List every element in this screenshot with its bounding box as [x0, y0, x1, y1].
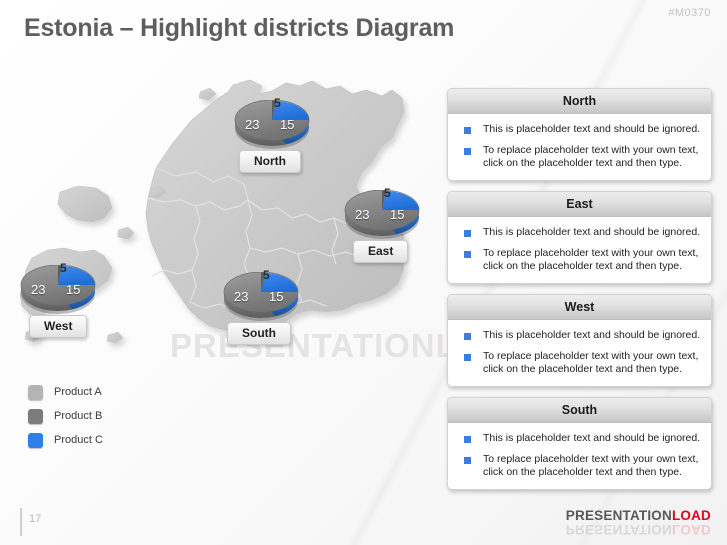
bullet-square-icon — [464, 148, 471, 155]
slide-canvas: Estonia – Highlight districts Diagram #M… — [0, 0, 727, 545]
bullet-square-icon — [464, 436, 471, 443]
pie-chart-north-svg — [230, 100, 314, 156]
list-item[interactable]: To replace placeholder text with your ow… — [456, 350, 701, 376]
logo-reflection-main: PRESENTATION — [566, 522, 672, 537]
district-badge-west[interactable]: West — [29, 315, 87, 338]
list-item[interactable]: To replace placeholder text with your ow… — [456, 453, 701, 479]
logo-text-main: PRESENTATION — [566, 508, 672, 523]
panel-north-title: North — [448, 89, 711, 114]
bullet-square-icon — [464, 457, 471, 464]
panel-north[interactable]: North This is placeholder text and shoul… — [447, 88, 712, 181]
legend-label-product-b: Product B — [54, 410, 102, 422]
logo-text-accent: LOAD — [672, 508, 711, 523]
pie-value-blue-east: 15 — [390, 207, 404, 222]
pie-label-small-south: 5 — [263, 268, 270, 282]
panel-west-title: West — [448, 295, 711, 320]
chart-legend: Product A Product B Product C — [28, 380, 103, 452]
bullet-text: To replace placeholder text with your ow… — [483, 144, 701, 170]
legend-item-product-c[interactable]: Product C — [28, 428, 103, 452]
pie-value-gray-east: 23 — [355, 207, 369, 222]
bullet-text: To replace placeholder text with your ow… — [483, 453, 701, 479]
bullet-text: This is placeholder text and should be i… — [483, 329, 700, 342]
pie-label-small-west: 5 — [60, 261, 67, 275]
panel-north-body[interactable]: This is placeholder text and should be i… — [448, 114, 711, 180]
pie-value-gray-north: 23 — [245, 117, 259, 132]
pie-chart-north[interactable]: 5 23 15 — [230, 100, 314, 156]
bullet-text: To replace placeholder text with your ow… — [483, 350, 701, 376]
district-badge-south[interactable]: South — [227, 322, 291, 345]
legend-swatch-product-b — [28, 409, 43, 424]
bullet-square-icon — [464, 230, 471, 237]
list-item[interactable]: To replace placeholder text with your ow… — [456, 144, 701, 170]
district-badge-north[interactable]: North — [239, 150, 301, 173]
pie-marker-north[interactable]: 5 23 15 North — [230, 100, 314, 156]
legend-swatch-product-c — [28, 433, 43, 448]
legend-label-product-c: Product C — [54, 434, 103, 446]
pie-value-gray-south: 23 — [234, 289, 248, 304]
page-title: Estonia – Highlight districts Diagram — [24, 14, 454, 43]
panel-east-body[interactable]: This is placeholder text and should be i… — [448, 217, 711, 283]
pie-chart-east[interactable]: 5 23 15 — [340, 190, 424, 246]
panel-west-body[interactable]: This is placeholder text and should be i… — [448, 320, 711, 386]
panel-west[interactable]: West This is placeholder text and should… — [447, 294, 712, 387]
page-number-rule — [20, 508, 22, 536]
page-number: 17 — [29, 513, 41, 525]
panel-east[interactable]: East This is placeholder text and should… — [447, 191, 712, 284]
bullet-square-icon — [464, 127, 471, 134]
bullet-text: To replace placeholder text with your ow… — [483, 247, 701, 273]
pie-marker-east[interactable]: 5 23 15 East — [340, 190, 424, 246]
pie-chart-south[interactable]: 5 23 15 — [219, 272, 303, 328]
panel-south-body[interactable]: This is placeholder text and should be i… — [448, 423, 711, 489]
pie-value-gray-west: 23 — [31, 282, 45, 297]
pie-marker-west[interactable]: 5 23 15 West — [16, 265, 100, 321]
pie-value-blue-south: 15 — [269, 289, 283, 304]
list-item[interactable]: This is placeholder text and should be i… — [456, 123, 701, 136]
logo-reflection: PRESENTATIONLOAD — [566, 523, 711, 536]
bullet-text: This is placeholder text and should be i… — [483, 226, 700, 239]
legend-item-product-a[interactable]: Product A — [28, 380, 103, 404]
panel-south-title: South — [448, 398, 711, 423]
logo-text: PRESENTATIONLOAD — [566, 508, 711, 523]
pie-label-small-east: 5 — [384, 186, 391, 200]
pie-chart-west-svg — [16, 265, 100, 321]
pie-label-small-north: 5 — [274, 96, 281, 110]
pie-chart-south-svg — [219, 272, 303, 328]
district-badge-east[interactable]: East — [353, 240, 408, 263]
bullet-square-icon — [464, 333, 471, 340]
legend-item-product-b[interactable]: Product B — [28, 404, 103, 428]
legend-label-product-a: Product A — [54, 386, 102, 398]
presentationload-logo: PRESENTATIONLOAD PRESENTATIONLOAD — [566, 508, 711, 536]
list-item[interactable]: To replace placeholder text with your ow… — [456, 247, 701, 273]
bullet-square-icon — [464, 251, 471, 258]
pie-chart-west[interactable]: 5 23 15 — [16, 265, 100, 321]
pie-chart-east-svg — [340, 190, 424, 246]
list-item[interactable]: This is placeholder text and should be i… — [456, 226, 701, 239]
panel-south[interactable]: South This is placeholder text and shoul… — [447, 397, 712, 490]
list-item[interactable]: This is placeholder text and should be i… — [456, 432, 701, 445]
bullet-square-icon — [464, 354, 471, 361]
bullet-text: This is placeholder text and should be i… — [483, 432, 700, 445]
logo-reflection-accent: LOAD — [672, 522, 711, 537]
legend-swatch-product-a — [28, 385, 43, 400]
panel-east-title: East — [448, 192, 711, 217]
pie-value-blue-west: 15 — [66, 282, 80, 297]
template-code: #M0370 — [668, 7, 711, 19]
list-item[interactable]: This is placeholder text and should be i… — [456, 329, 701, 342]
pie-marker-south[interactable]: 5 23 15 South — [219, 272, 303, 328]
bullet-text: This is placeholder text and should be i… — [483, 123, 700, 136]
pie-value-blue-north: 15 — [280, 117, 294, 132]
